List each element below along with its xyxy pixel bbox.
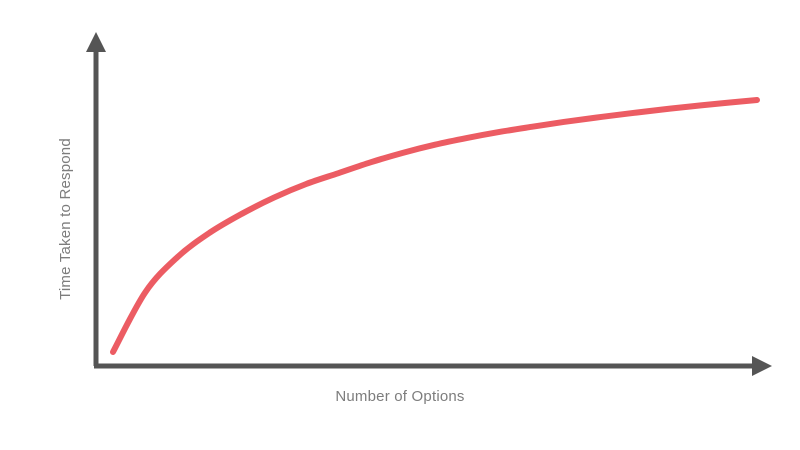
arrow-right-icon — [752, 356, 772, 376]
x-axis-label: Number of Options — [0, 388, 800, 405]
chart-canvas — [0, 0, 800, 450]
response-time-curve — [113, 100, 757, 352]
arrow-up-icon — [86, 32, 106, 52]
hicks-law-chart: Number of Options Time Taken to Respond — [0, 0, 800, 450]
y-axis-label: Time Taken to Respond — [57, 29, 74, 409]
